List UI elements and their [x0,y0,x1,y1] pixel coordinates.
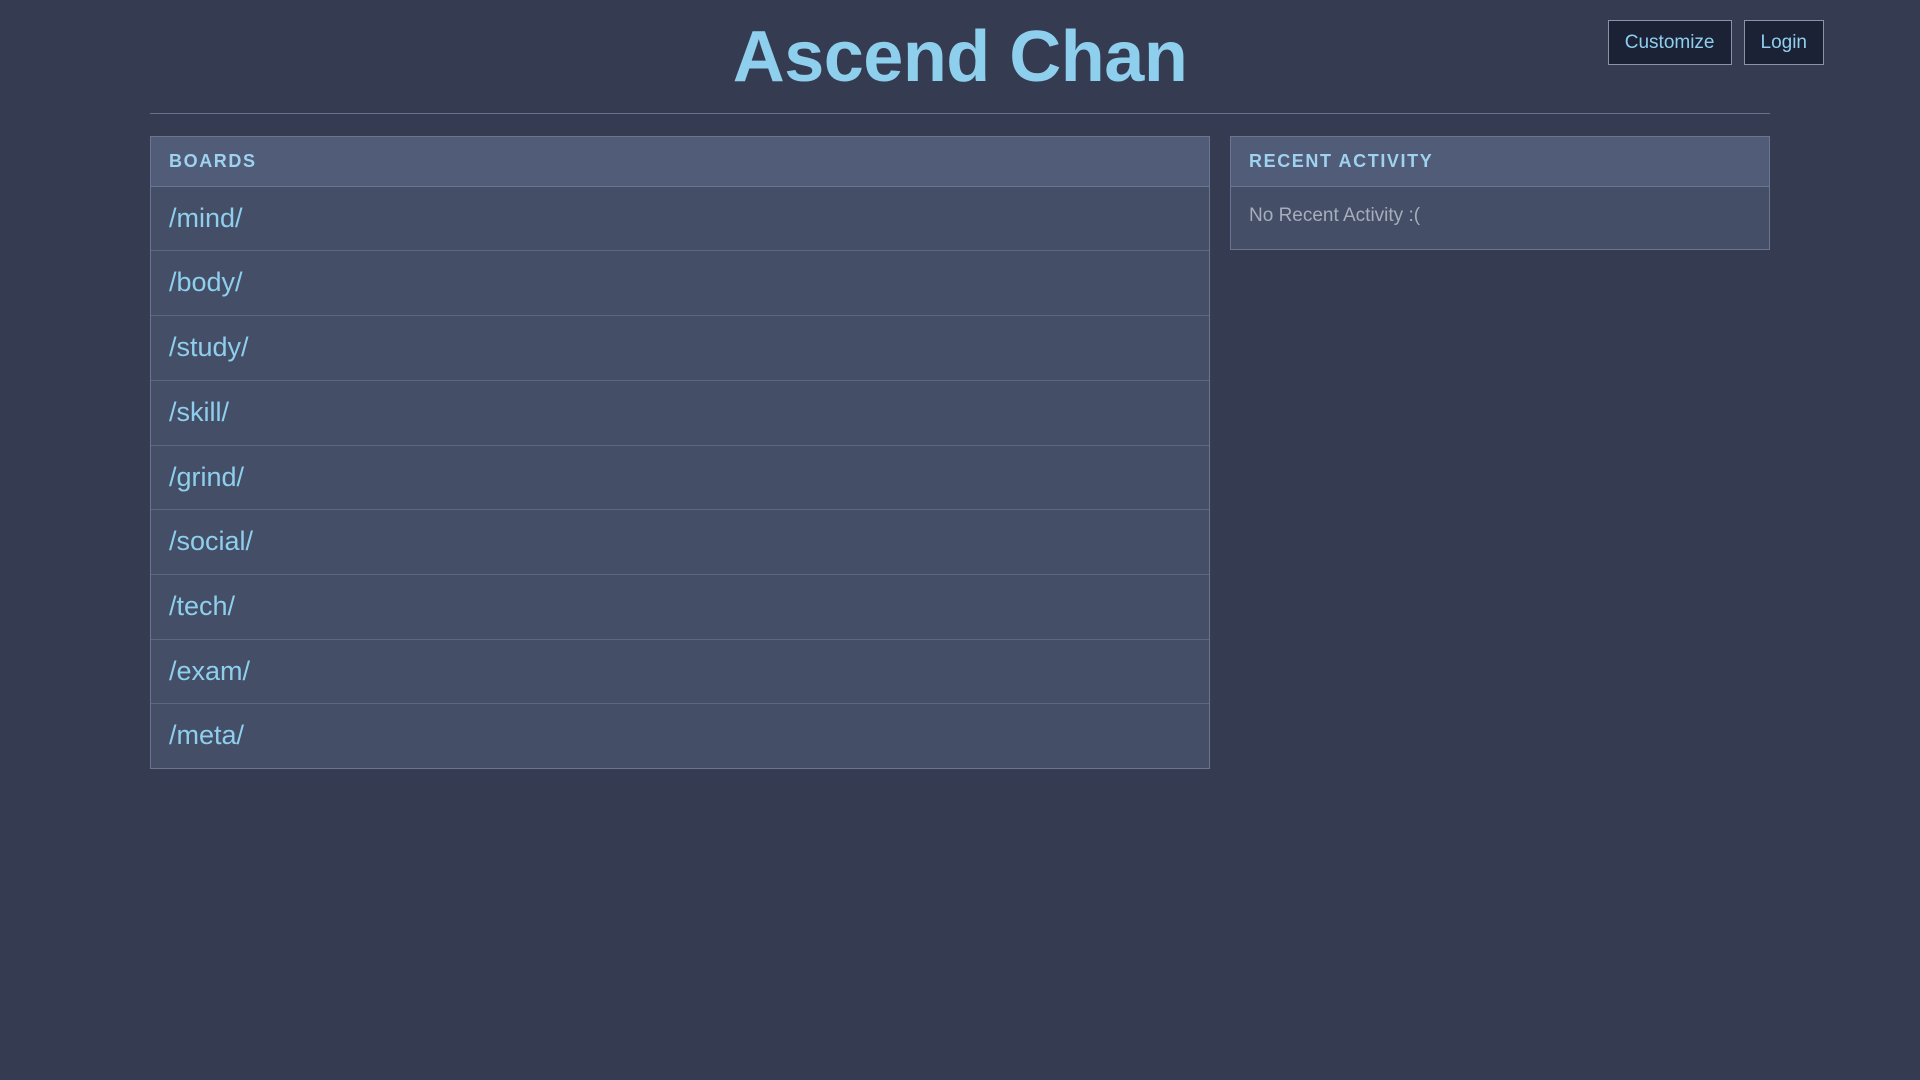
customize-button[interactable]: Customize [1608,20,1732,65]
boards-panel-title: BOARDS [151,137,1209,187]
recent-activity-empty-text: No Recent Activity :( [1231,187,1769,249]
board-link-grind[interactable]: /grind/ [169,463,244,493]
list-item[interactable]: /body/ [151,251,1209,316]
board-link-meta[interactable]: /meta/ [169,721,244,751]
header-divider [150,113,1770,114]
header-actions: Customize Login [1608,20,1824,65]
boards-panel-body: /mind/ /body/ /study/ /skill/ /grind/ [151,187,1209,768]
list-item[interactable]: /tech/ [151,575,1209,640]
list-item[interactable]: /meta/ [151,704,1209,768]
recent-activity-panel: RECENT ACTIVITY No Recent Activity :( [1230,136,1770,250]
board-list: /mind/ /body/ /study/ /skill/ /grind/ [151,187,1209,768]
board-link-exam[interactable]: /exam/ [169,657,250,687]
boards-panel: BOARDS /mind/ /body/ /study/ /skill/ [150,136,1210,769]
list-item[interactable]: /study/ [151,316,1209,381]
board-link-social[interactable]: /social/ [169,527,253,557]
recent-activity-title: RECENT ACTIVITY [1231,137,1769,187]
recent-activity-body: No Recent Activity :( [1231,187,1769,249]
list-item[interactable]: /social/ [151,510,1209,575]
boards-column: BOARDS /mind/ /body/ /study/ /skill/ [150,136,1210,769]
list-item[interactable]: /exam/ [151,640,1209,705]
list-item[interactable]: /mind/ [151,187,1209,252]
board-link-study[interactable]: /study/ [169,333,249,363]
login-button[interactable]: Login [1744,20,1825,65]
board-link-tech[interactable]: /tech/ [169,592,235,622]
list-item[interactable]: /skill/ [151,381,1209,446]
board-link-mind[interactable]: /mind/ [169,204,243,234]
board-link-skill[interactable]: /skill/ [169,398,229,428]
main-content: BOARDS /mind/ /body/ /study/ /skill/ [150,114,1770,769]
activity-column: RECENT ACTIVITY No Recent Activity :( [1230,136,1770,250]
site-header: Ascend Chan Customize Login [0,0,1920,114]
list-item[interactable]: /grind/ [151,446,1209,511]
board-link-body[interactable]: /body/ [169,268,243,298]
